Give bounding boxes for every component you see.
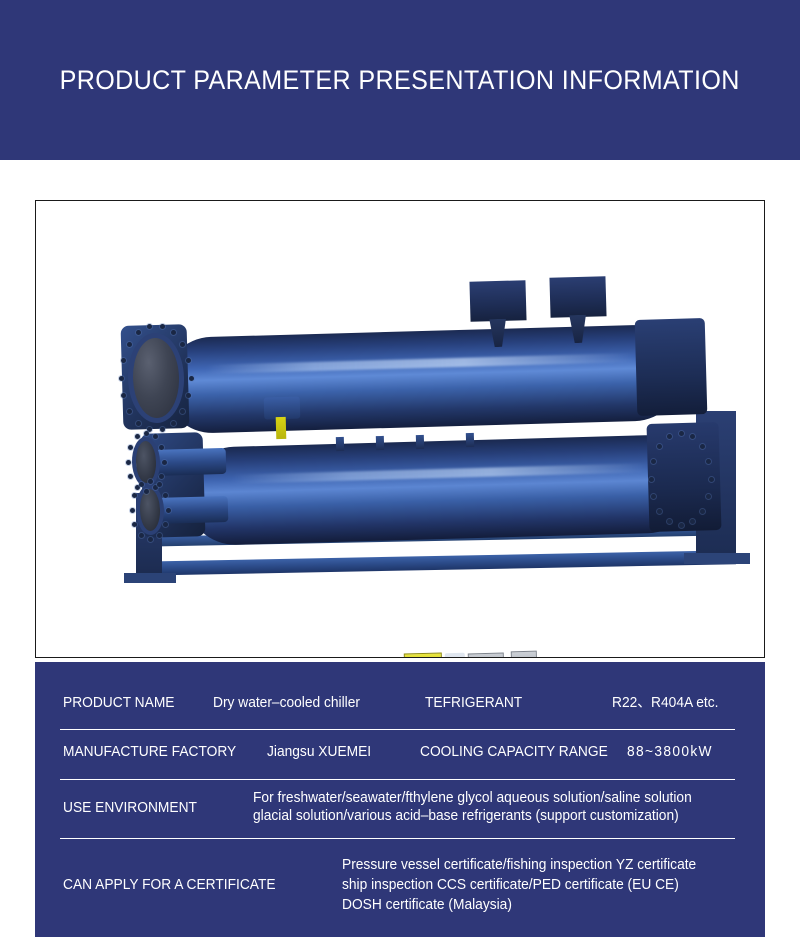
- table-row: CAN APPLY FOR A CERTIFICATE Pressure ves…: [35, 839, 765, 919]
- end-cover-bolt: [127, 342, 132, 347]
- nozzle-flange-bolt: [130, 508, 135, 513]
- row-value-use-environment-line2: glacial solution/various acid–base refri…: [253, 808, 679, 825]
- nozzle-flange-bolt: [132, 522, 137, 527]
- product-image-frame: S: [35, 200, 765, 658]
- row-label-manufacture-factory: MANUFACTURE FACTORY: [63, 744, 236, 761]
- nozzle-flange-bolt: [128, 474, 133, 479]
- nozzle-flange-bolt: [157, 533, 162, 538]
- saddle-fin: [336, 437, 344, 451]
- product-image: S: [36, 201, 764, 657]
- saddle-fin: [416, 435, 424, 449]
- nozzle-flange-bolt: [126, 460, 131, 465]
- row-label-cooling-capacity-range: COOLING CAPACITY RANGE: [420, 744, 608, 761]
- nozzle-flange-bolt: [148, 479, 153, 484]
- nozzle-flange-bolt: [153, 434, 158, 439]
- right-head-bolt: [679, 431, 684, 436]
- warning-label-plate: [404, 652, 442, 658]
- nozzle-flange-bolt: [139, 482, 144, 487]
- end-cover-bolt: [121, 358, 126, 363]
- end-cover-bolt: [160, 427, 165, 432]
- nameplate-one: [468, 653, 505, 658]
- nozzle-flange-bolt: [132, 493, 137, 498]
- row-value-certificate-line1: Pressure vessel certificate/fishing insp…: [342, 857, 696, 874]
- saddle-fin: [376, 436, 384, 450]
- end-cover-bolt: [160, 324, 165, 329]
- end-cover-bolt: [189, 376, 194, 381]
- page-title: PRODUCT PARAMETER PRESENTATION INFORMATI…: [60, 65, 740, 96]
- table-row: MANUFACTURE FACTORY Jiangsu XUEMEI COOLI…: [35, 730, 765, 774]
- top-hopper-left: [469, 280, 526, 322]
- row-value-certificate-line2: ship inspection CCS certificate/PED cert…: [342, 877, 679, 894]
- right-head-bolt: [679, 523, 684, 528]
- frame-rail-lower: [136, 550, 736, 576]
- frame-foot-right: [684, 553, 750, 564]
- row-label-use-environment: USE ENVIRONMENT: [63, 800, 197, 817]
- product-parameter-table: PRODUCT NAME Dry water–cooled chiller TE…: [35, 662, 765, 937]
- page-header-banner: PRODUCT PARAMETER PRESENTATION INFORMATI…: [0, 0, 800, 160]
- upper-pressure-vessel: [163, 324, 683, 434]
- right-head-bolt: [649, 477, 654, 482]
- end-cover-bolt: [136, 421, 141, 426]
- nozzle-flange-bolt: [144, 431, 149, 436]
- end-cover-bolt: [121, 393, 126, 398]
- frame-foot-left: [124, 573, 176, 583]
- nameplate-two: [511, 651, 538, 658]
- end-cover-bolt: [127, 409, 132, 414]
- right-head-bolt: [651, 459, 656, 464]
- row-value-certificate-line3: DOSH certificate (Malaysia): [342, 897, 512, 914]
- row-value-refrigerant: R22、R404A etc.: [612, 695, 718, 712]
- right-head-bolt: [700, 509, 705, 514]
- row-value-manufacture-factory: Jiangsu XUEMEI: [267, 744, 371, 761]
- nozzle-flange-bolt: [166, 508, 171, 513]
- top-hopper-right: [549, 276, 606, 318]
- saddle-fin: [466, 433, 474, 447]
- end-cover-bolt: [171, 421, 176, 426]
- row-label-product-name: PRODUCT NAME: [63, 695, 174, 712]
- nozzle-flange-bolt: [139, 533, 144, 538]
- right-head-bolt: [667, 519, 672, 524]
- water-nozzle-lower-pipe: [154, 496, 229, 524]
- right-head-bolt: [690, 519, 695, 524]
- row-value-use-environment-line1: For freshwater/seawater/fthylene glycol …: [253, 790, 692, 807]
- right-head-bolt: [709, 477, 714, 482]
- row-value-cooling-capacity-range: 88~3800kW: [627, 744, 713, 761]
- end-cover-bolt: [119, 376, 124, 381]
- right-head-bolt: [667, 434, 672, 439]
- row-label-certificate: CAN APPLY FOR A CERTIFICATE: [63, 877, 276, 894]
- nozzle-flange-bolt: [148, 537, 153, 542]
- certification-mark-icon: S: [445, 653, 465, 658]
- row-value-product-name: Dry water–cooled chiller: [213, 695, 360, 712]
- table-row: USE ENVIRONMENT For freshwater/seawater/…: [35, 780, 765, 838]
- sight-glass-valve-stem: [276, 417, 287, 439]
- upper-vessel-right-head: [635, 318, 708, 416]
- row-label-refrigerant: TEFRIGERANT: [425, 695, 522, 712]
- right-head-bolt: [690, 434, 695, 439]
- right-head-bolt: [700, 444, 705, 449]
- table-row: PRODUCT NAME Dry water–cooled chiller TE…: [35, 684, 765, 728]
- nozzle-flange-bolt: [162, 460, 167, 465]
- nozzle-flange-bolt: [157, 482, 162, 487]
- nozzle-flange-bolt: [128, 445, 133, 450]
- lower-pressure-vessel: [185, 434, 698, 546]
- right-head-bolt: [651, 494, 656, 499]
- nozzle-flange-bolt: [144, 489, 149, 494]
- nozzle-flange-bolt: [135, 434, 140, 439]
